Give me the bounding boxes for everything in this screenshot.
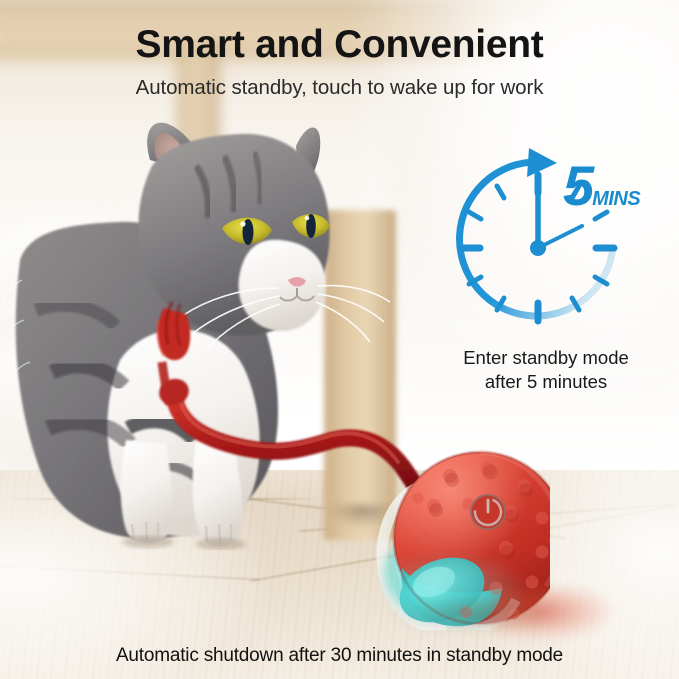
standby-caption: Enter standby mode after 5 minutes bbox=[420, 346, 672, 395]
standby-clock-graphic: 5MINS bbox=[445, 138, 660, 338]
shutdown-caption: Automatic shutdown after 30 minutes in s… bbox=[0, 645, 679, 667]
standby-minutes-unit: MINS bbox=[592, 188, 640, 210]
standby-minutes-value: 5 bbox=[563, 154, 592, 217]
ball-floor-reflection bbox=[492, 588, 612, 640]
clock-center-pin bbox=[530, 240, 546, 256]
page-subtitle: Automatic standby, touch to wake up for … bbox=[0, 76, 679, 100]
page-title: Smart and Convenient bbox=[0, 24, 679, 67]
clock-arrow-head bbox=[527, 148, 557, 177]
standby-duration-label: 5MINS bbox=[563, 158, 640, 214]
product-feature-image: Smart and Convenient Automatic standby, … bbox=[0, 0, 679, 679]
standby-caption-line-2: after 5 minutes bbox=[420, 370, 672, 394]
standby-caption-line-1: Enter standby mode bbox=[420, 346, 672, 370]
power-button-icon bbox=[471, 495, 505, 529]
